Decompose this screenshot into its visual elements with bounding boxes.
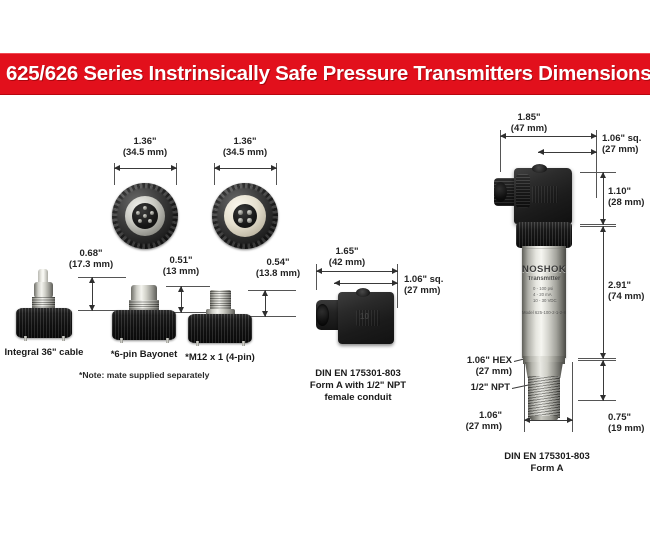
xmtr-width-inch: 1.85" [493, 112, 565, 124]
xmtr-hoodh-mm: (28 mm) [608, 197, 650, 209]
hood-sq-arrow-left [334, 280, 340, 286]
conn2-dim-inch: 0.51" [152, 255, 210, 267]
conn1-arrow-down [89, 305, 95, 311]
base-foot [166, 338, 169, 343]
xmtr-model-label: Model 625-100-2-1-2-8 [522, 310, 566, 315]
base-foot [24, 336, 27, 341]
xmtr-width-line [500, 136, 597, 137]
xmtr-thread-tip [530, 416, 558, 420]
face2-arrow-right [271, 165, 277, 171]
bayonet-insert-center [132, 203, 158, 229]
knurled-base [188, 314, 252, 343]
pin [136, 211, 140, 215]
face1-dim-line [114, 168, 177, 169]
xmtr-hexacross-line [524, 420, 573, 421]
pin [148, 219, 152, 223]
xmtr-width-arrow-left [500, 133, 506, 139]
face1-dim-inch: 1.36" [105, 136, 185, 148]
face1-arrow-right [171, 165, 177, 171]
xmtr-bodyh-mm: (74 mm) [608, 291, 650, 303]
xmtr-hoodsq-mm: (27 mm) [602, 144, 650, 156]
pin [238, 210, 243, 215]
hood-width-inch: 1.65" [316, 246, 378, 258]
hood-caption-1: DIN EN 175301-803 [296, 368, 420, 380]
m12-face [212, 183, 278, 249]
pin [247, 210, 252, 215]
conn3-ext-top [248, 290, 296, 291]
din-hood-connector: 10 [316, 288, 400, 348]
footnote: *Note: mate supplied separately [79, 370, 209, 380]
hood-sq-mm: (27 mm) [404, 285, 468, 297]
xmtr-hoodh-inch: 1.10" [608, 186, 650, 198]
xmtr-caption-2: Form A [484, 463, 610, 475]
pin [138, 219, 142, 223]
knurled-base [16, 308, 72, 338]
conn3-dim-mm: (13.8 mm) [245, 268, 311, 280]
xmtr-hoodsq-inch: 1.06" sq. [602, 133, 650, 145]
hood-sq-inch: 1.06" sq. [404, 274, 468, 286]
face2-dim-mm: (34.5 mm) [205, 147, 285, 159]
conn3-arrow-down [262, 311, 268, 317]
conn2-arrow-up [178, 286, 184, 292]
conn3-caption: *M12 x 1 (4-pin) [172, 352, 268, 364]
xmtr-hood-neck [516, 174, 530, 208]
knurled-base [112, 310, 176, 340]
face2-dim-inch: 1.36" [205, 136, 285, 148]
hood-caption-3: female conduit [296, 392, 420, 404]
base-foot [242, 341, 245, 346]
pin [238, 218, 243, 223]
xmtr-width-arrow-right [591, 133, 597, 139]
conn3-arrow-up [262, 290, 268, 296]
xmtr-hoodsq-arrow-left [538, 149, 544, 155]
xmtr-spec-3: 10 - 30 VDC [533, 298, 566, 303]
title-banner: 625/626 Series Instrinsically Safe Press… [0, 53, 650, 95]
face1-arrow-left [114, 165, 120, 171]
hood-logo-icon: 10 [360, 312, 369, 321]
pressure-transmitter: NOSHOK Transmitter 0 - 100 psi 4 - 20 mA… [492, 160, 602, 405]
m12-thread [210, 290, 231, 311]
xmtr-bodyh-inch: 2.91" [608, 280, 650, 292]
pin [150, 211, 154, 215]
hood-arrow-right [392, 268, 398, 274]
xmtr-gland-bore [494, 182, 507, 202]
base-foot [196, 341, 199, 346]
xmtr-hexacross-inch: 1.06" [452, 410, 502, 422]
face1-dim-mm: (34.5 mm) [105, 147, 185, 159]
hood-width-mm: (42 mm) [316, 257, 378, 269]
conn1-ext-top [78, 277, 126, 278]
hood-caption-2: Form A with 1/2" NPT [296, 380, 420, 392]
conn1-arrow-up [89, 277, 95, 283]
xmtr-spec-1: 0 - 100 psi [533, 286, 566, 291]
diagram-canvas: 625/626 Series Instrinsically Safe Press… [0, 0, 650, 536]
conn2-arrow-down [178, 307, 184, 313]
pin [143, 206, 147, 210]
body-band [522, 248, 566, 249]
cable-gland-body [34, 282, 53, 298]
xmtr-sub-label: Transmitter [522, 276, 566, 282]
xmtr-hoodsq-arrow-right [591, 149, 597, 155]
pin [143, 214, 147, 218]
xmtr-collar [516, 222, 572, 248]
conn2-dim-mm: (13 mm) [152, 266, 210, 278]
conn1-dim-mm: (17.3 mm) [60, 259, 122, 271]
xmtr-hood-top-boss [532, 164, 547, 173]
bayonet-shell [131, 285, 157, 301]
hood-conduit-bore [316, 304, 329, 326]
xmtr-body-height-line [603, 226, 604, 359]
m12-insert-center [233, 204, 257, 228]
hood-top-boss [356, 288, 370, 297]
xmtr-npt-thread [528, 376, 560, 418]
conn2-ext-top [166, 286, 210, 287]
xmtr-body: NOSHOK Transmitter 0 - 100 psi 4 - 20 mA… [522, 246, 566, 358]
pin [247, 218, 252, 223]
base-foot [120, 338, 123, 343]
hood-sq-line [334, 283, 398, 284]
conn3-ext-bottom [248, 316, 296, 317]
bayonet-face [112, 183, 178, 249]
xmtr-hexacross-arrow-right [567, 417, 573, 423]
xmtr-hood-embossing [532, 186, 558, 203]
hood-sq-arrow-right [392, 280, 398, 286]
cable-strain-relief [38, 269, 48, 283]
xmtr-threadlen-inch: 0.75" [608, 412, 650, 424]
hood-width-line [316, 271, 398, 272]
conn1-dim-inch: 0.68" [60, 248, 122, 260]
conn3-dim-inch: 0.54" [245, 257, 311, 269]
conn1-caption: Integral 36" cable [0, 347, 92, 359]
xmtr-spec-2: 4 - 20 mA [533, 292, 566, 297]
base-foot [62, 336, 65, 341]
xmtr-hexacross-mm: (27 mm) [452, 421, 502, 433]
xmtr-brand-label: NOSHOK [522, 264, 566, 275]
xmtr-hood-height-line [603, 172, 604, 225]
page-title: 625/626 Series Instrinsically Safe Press… [0, 62, 650, 86]
hood-arrow-left [316, 268, 322, 274]
xmtr-caption-1: DIN EN 175301-803 [484, 451, 610, 463]
xmtr-hoodsq-line [538, 152, 597, 153]
face2-dim-line [214, 168, 277, 169]
xmtr-threadlen-mm: (19 mm) [608, 423, 650, 435]
face2-arrow-left [214, 165, 220, 171]
